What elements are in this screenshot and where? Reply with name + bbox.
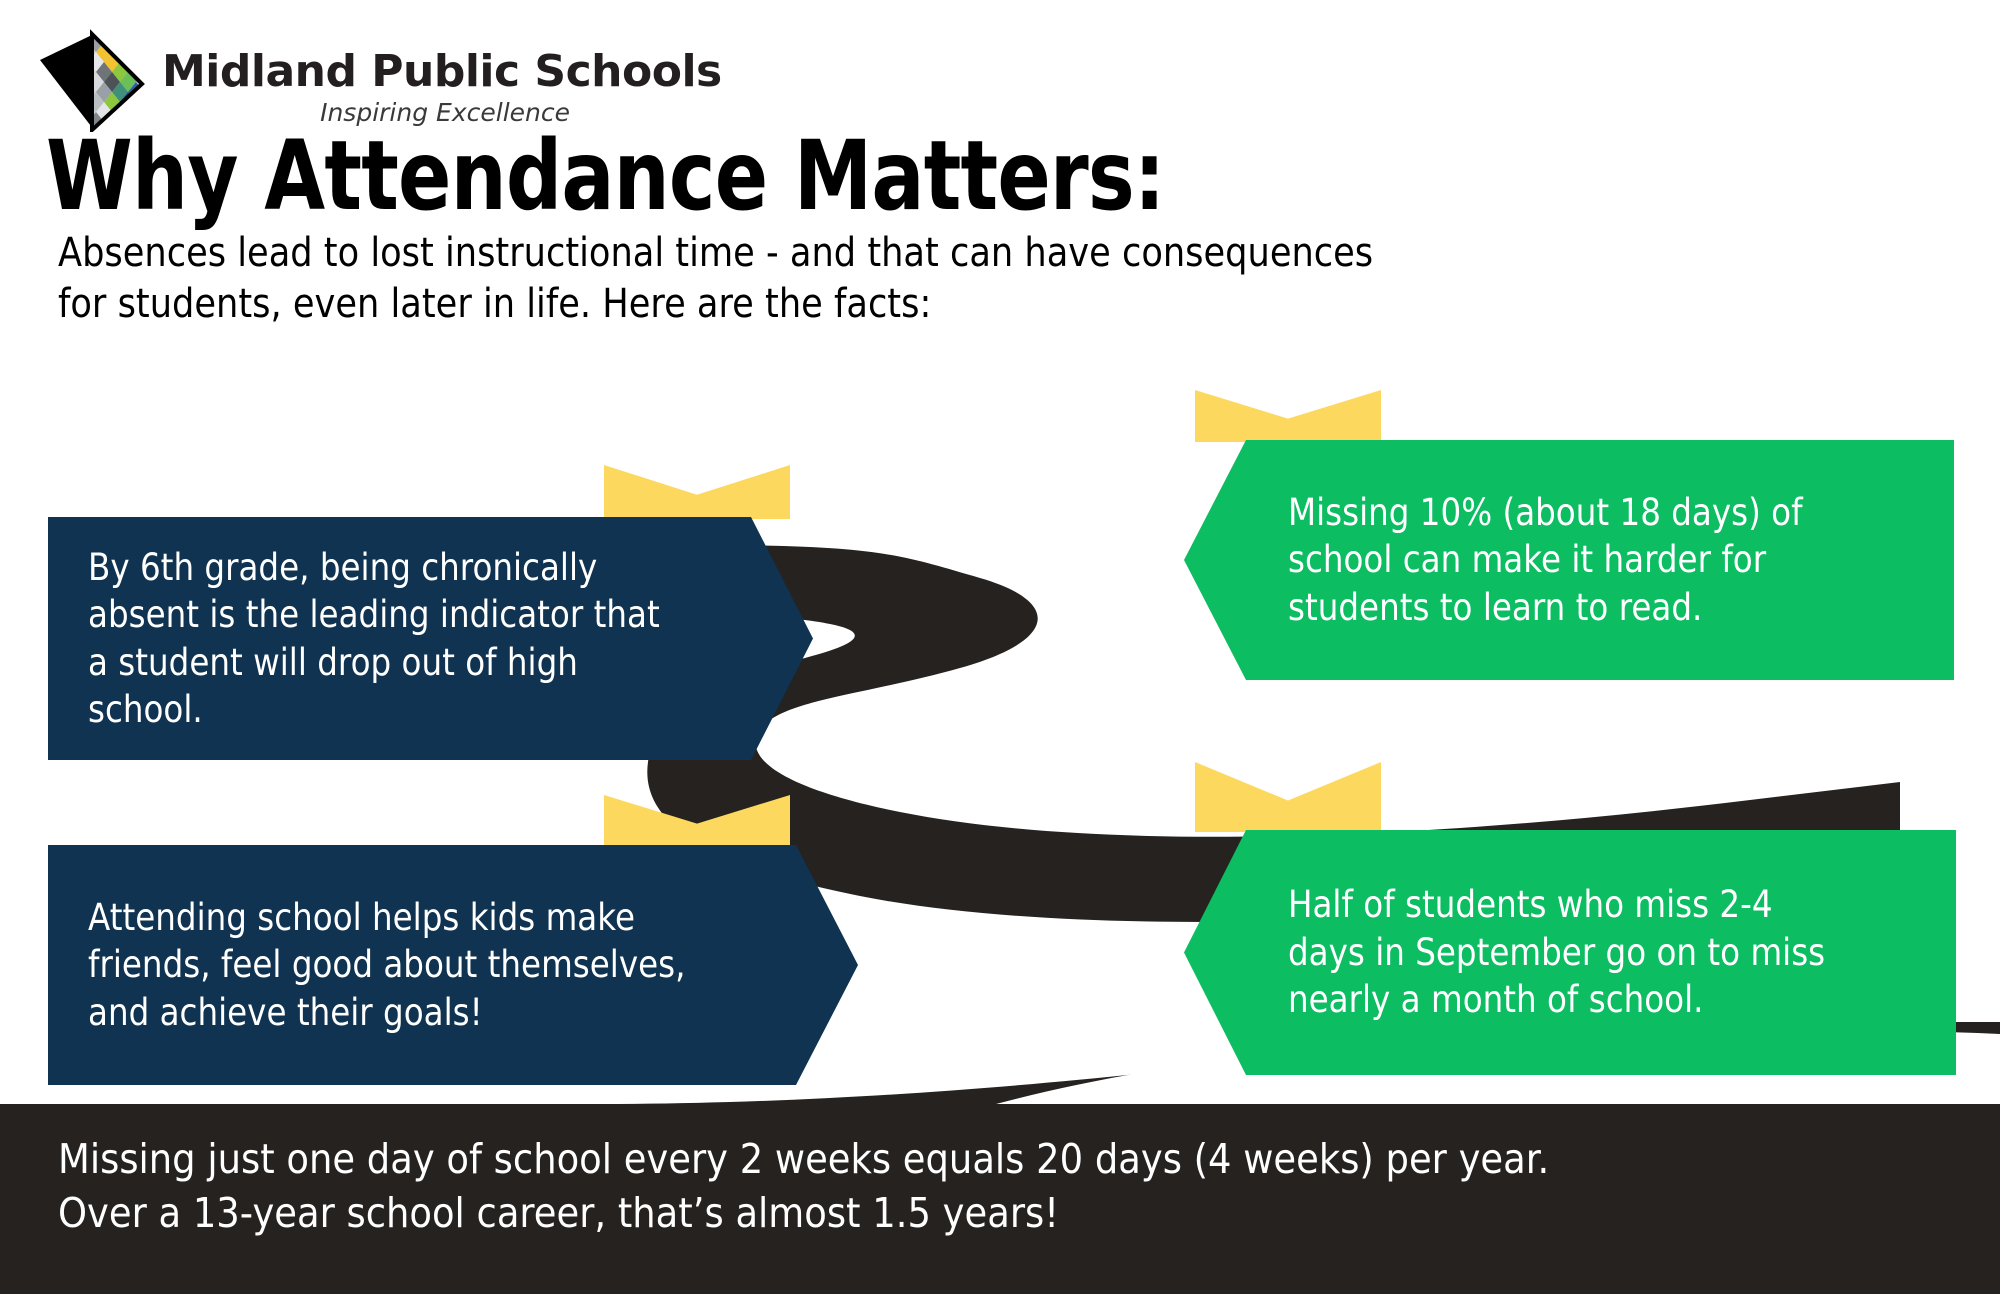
fact-card-social-text: Attending school helps kids make friends…: [88, 894, 713, 1036]
logo-block: Midland Public Schools Inspiring Excelle…: [34, 22, 674, 132]
infographic-canvas: Midland Public Schools Inspiring Excelle…: [0, 0, 2000, 1294]
midland-arrow-logo-icon: [34, 22, 154, 132]
logo-wordmark: Midland Public Schools Inspiring Excelle…: [162, 50, 662, 127]
footer-banner: Missing just one day of school every 2 w…: [0, 1104, 2000, 1294]
fact-card-dropout: By 6th grade, being chronically absent i…: [48, 517, 813, 760]
footer-line-1: Missing just one day of school every 2 w…: [58, 1132, 1768, 1186]
fact-card-september: Half of students who miss 2-4 days in Se…: [1184, 830, 1956, 1075]
page-title: Why Attendance Matters:: [46, 128, 1165, 224]
footer-banner-text: Missing just one day of school every 2 w…: [58, 1132, 1768, 1240]
page-subtitle: Absences lead to lost instructional time…: [58, 228, 1431, 330]
fact-card-september-text: Half of students who miss 2-4 days in Se…: [1288, 881, 1841, 1023]
fact-card-reading: Missing 10% (about 18 days) of school ca…: [1184, 440, 1954, 680]
fact-card-dropout-text: By 6th grade, being chronically absent i…: [88, 544, 675, 733]
footer-line-2: Over a 13-year school career, that’s alm…: [58, 1186, 1768, 1240]
fact-card-social: Attending school helps kids make friends…: [48, 845, 858, 1085]
organization-name: Midland Public Schools: [162, 50, 662, 94]
fact-card-reading-text: Missing 10% (about 18 days) of school ca…: [1288, 489, 1839, 631]
